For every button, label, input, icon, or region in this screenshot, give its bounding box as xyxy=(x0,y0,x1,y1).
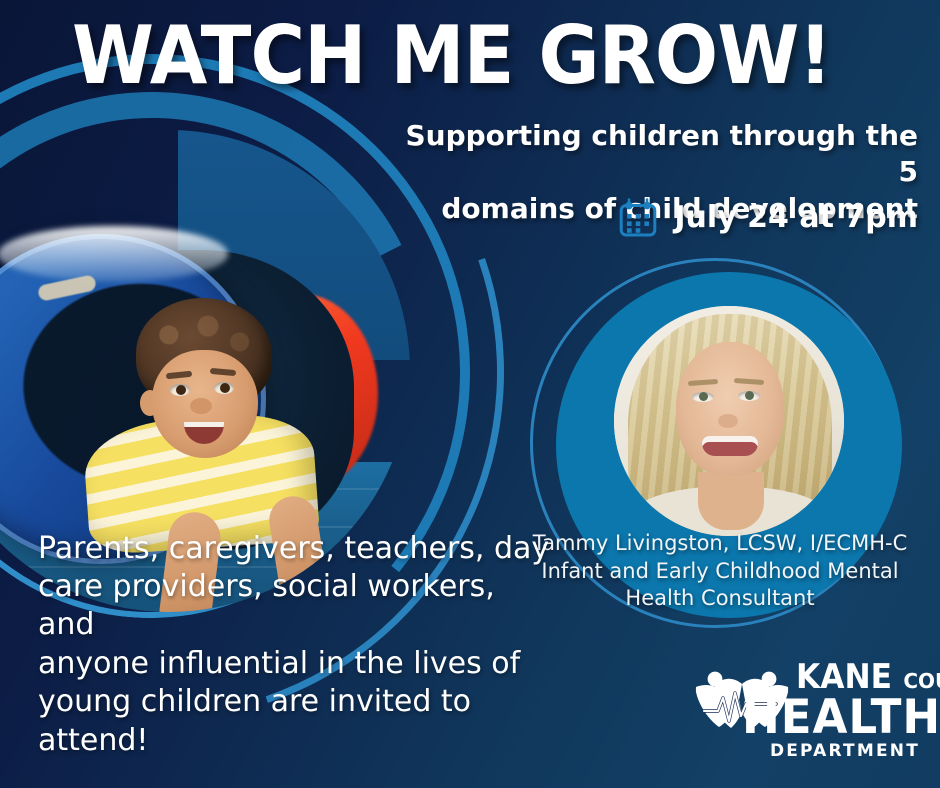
speaker-headshot xyxy=(614,306,844,536)
speaker-credit: Tammy Livingston, LCSW, I/ECMH-C Infant … xyxy=(520,530,920,613)
child-eye-right xyxy=(214,382,234,394)
headshot-mouth xyxy=(702,436,758,456)
speaker-role-line-2: Health Consultant xyxy=(520,585,920,613)
headshot-neck xyxy=(698,472,764,530)
poster-canvas: WATCH ME GROW! Supporting children throu… xyxy=(0,0,940,788)
logo-county-text: COUNTY xyxy=(903,672,940,690)
headshot-nose xyxy=(718,414,738,428)
poster-title: WATCH ME GROW! xyxy=(72,16,831,96)
subtitle-line-1: Supporting children through the 5 xyxy=(398,118,918,191)
calendar-icon xyxy=(618,196,658,238)
event-datetime: July 24 at 7pm xyxy=(618,196,918,238)
speaker-name: Tammy Livingston, LCSW, I/ECMH-C xyxy=(520,530,920,558)
photo-tunnel-highlight xyxy=(0,226,228,282)
child-eye-left xyxy=(170,384,190,396)
kane-county-health-logo: KANE COUNTY HEALTH DEPARTMENT xyxy=(692,662,918,762)
logo-kane-county-row: KANE COUNTY xyxy=(796,662,920,693)
headshot-eye-right xyxy=(738,391,760,401)
event-datetime-text: July 24 at 7pm xyxy=(674,200,918,235)
audience-statement: Parents, caregivers, teachers, day care … xyxy=(38,530,558,760)
child-nose xyxy=(190,398,212,414)
audience-line-3: anyone influential in the lives of xyxy=(38,645,558,683)
headshot-eye-left xyxy=(692,392,714,402)
logo-wordmark: KANE COUNTY HEALTH DEPARTMENT xyxy=(796,662,920,761)
audience-line-1: Parents, caregivers, teachers, day xyxy=(38,530,558,568)
logo-kane-text: KANE xyxy=(796,662,892,693)
logo-health-text: HEALTH xyxy=(742,696,913,739)
audience-line-4: young children are invited to attend! xyxy=(38,683,558,760)
speaker-role-line-1: Infant and Early Childhood Mental xyxy=(520,558,920,586)
audience-line-2: care providers, social workers, and xyxy=(38,568,558,645)
